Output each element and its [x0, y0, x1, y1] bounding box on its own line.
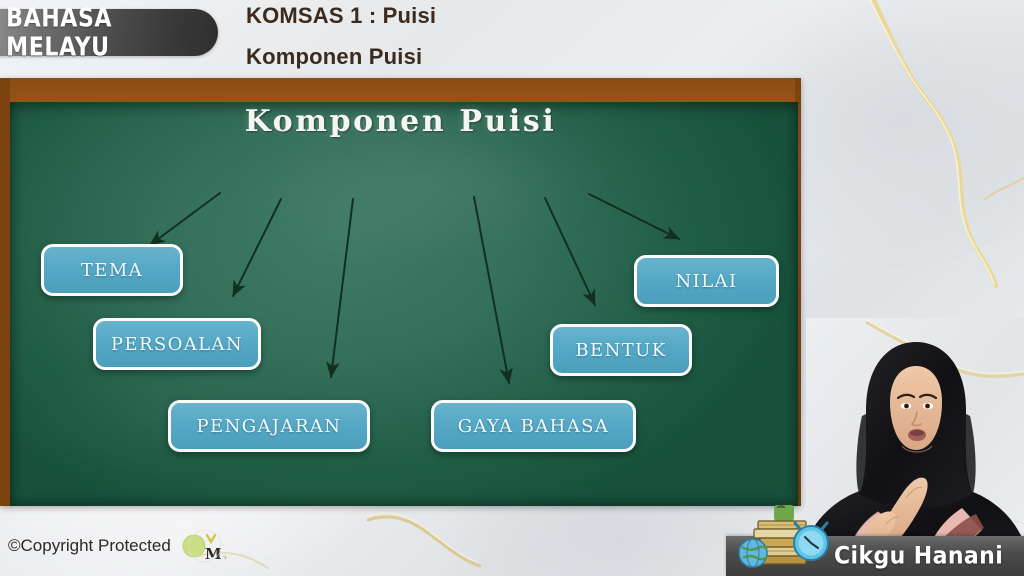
- presenter-name: Cikgu Hanani: [834, 542, 1003, 570]
- slide-canvas: BAHASA MELAYU KOMSAS 1 : Puisi Komponen …: [0, 0, 1024, 576]
- diagram-node-tema[interactable]: TEMA: [41, 244, 183, 296]
- diagram-node-nilai[interactable]: NILAI: [634, 255, 779, 307]
- copyright-notice: ©Copyright Protected M: [8, 529, 229, 563]
- ym-circle-logo-icon: M: [181, 529, 229, 563]
- diagram-title: Komponen Puisi: [0, 104, 801, 139]
- diagram-node-gaya-bahasa[interactable]: GAYA BAHASA: [431, 400, 636, 452]
- subject-pill-label: BAHASA MELAYU: [0, 3, 214, 61]
- diagram-node-bentuk[interactable]: BENTUK: [550, 324, 692, 376]
- lesson-title-line1: KOMSAS 1 : Puisi: [246, 3, 436, 29]
- lesson-title-line2: Komponen Puisi: [246, 44, 422, 70]
- copyright-text: ©Copyright Protected: [8, 536, 171, 556]
- chalkboard: Komponen Puisi TEMAPERSOALANPENGAJARANGA…: [0, 78, 801, 506]
- subject-pill: BAHASA MELAYU: [0, 9, 218, 56]
- diagram-node-pengajaran[interactable]: PENGAJARAN: [168, 400, 370, 452]
- diagram-node-persoalan[interactable]: PERSOALAN: [93, 318, 261, 370]
- books-clock-globe-icon: [734, 505, 840, 575]
